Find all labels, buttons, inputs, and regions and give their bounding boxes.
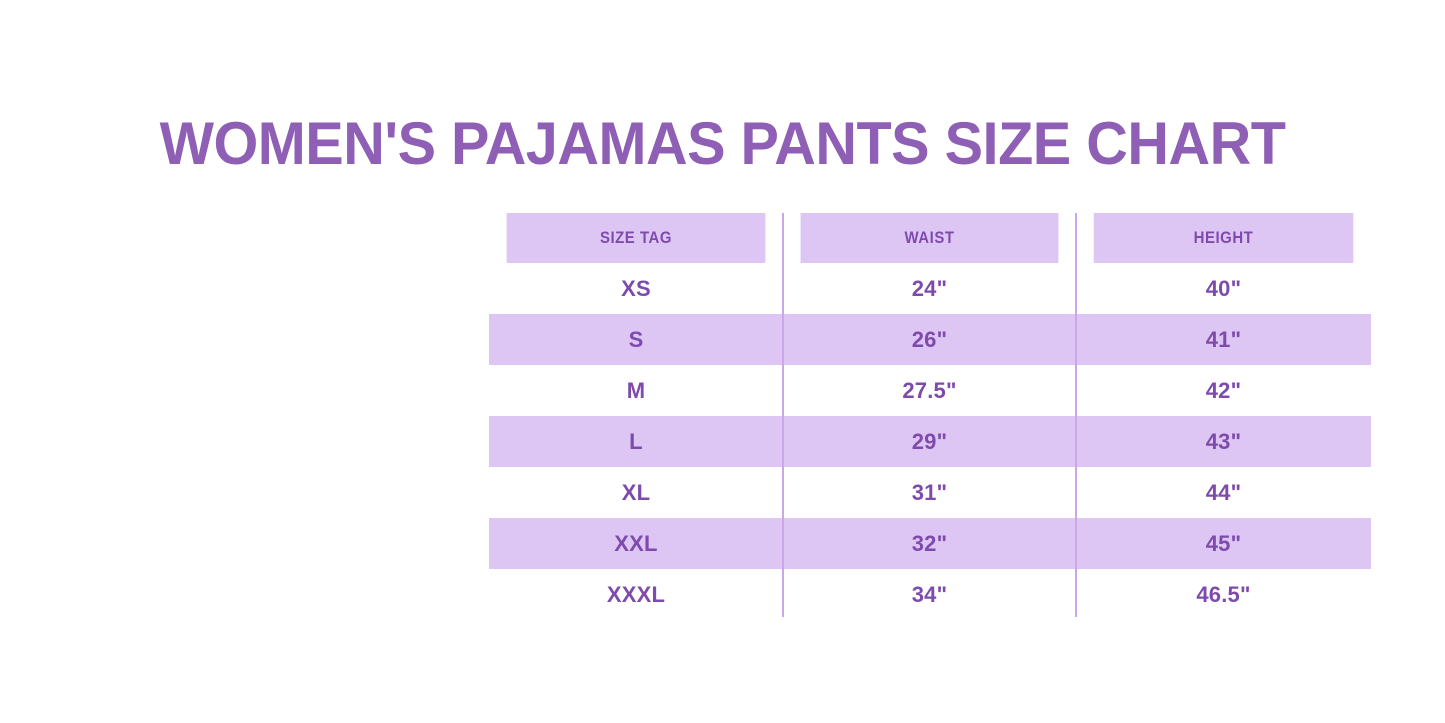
cell-waist: 26" [783,314,1076,365]
cell-height: 44" [1076,467,1371,518]
cell-waist: 27.5" [783,365,1076,416]
cell-height: 42" [1076,365,1371,416]
cell-size-tag: XXL [489,518,783,569]
cell-size-tag: M [489,365,783,416]
table-row: XL 31" 44" [489,467,1371,518]
size-chart-table-container: SIZE TAG WAIST HEIGHT XS 24" 40" S 26" 4… [489,213,1371,620]
column-header-waist: WAIST [801,213,1059,263]
table-header: SIZE TAG WAIST HEIGHT [489,213,1371,263]
table-header-row: SIZE TAG WAIST HEIGHT [489,213,1371,263]
cell-waist: 24" [783,263,1076,314]
cell-waist: 34" [783,569,1076,620]
cell-waist: 32" [783,518,1076,569]
table-body: XS 24" 40" S 26" 41" M 27.5" 42" L 29" [489,263,1371,620]
column-header-size-tag: SIZE TAG [507,213,766,263]
cell-height: 41" [1076,314,1371,365]
cell-height: 40" [1076,263,1371,314]
cell-size-tag: XXXL [489,569,783,620]
cell-size-tag: XS [489,263,783,314]
size-chart-table: SIZE TAG WAIST HEIGHT XS 24" 40" S 26" 4… [489,213,1371,620]
cell-size-tag: L [489,416,783,467]
page-title: WOMEN'S PAJAMAS PANTS SIZE CHART [29,108,1416,180]
cell-size-tag: XL [489,467,783,518]
cell-waist: 29" [783,416,1076,467]
size-chart-page: WOMEN'S PAJAMAS PANTS SIZE CHART SIZE TA… [0,0,1445,723]
cell-waist: 31" [783,467,1076,518]
cell-height: 45" [1076,518,1371,569]
cell-size-tag: S [489,314,783,365]
table-row: XXXL 34" 46.5" [489,569,1371,620]
cell-height: 46.5" [1076,569,1371,620]
table-row: M 27.5" 42" [489,365,1371,416]
table-row: XS 24" 40" [489,263,1371,314]
table-row: L 29" 43" [489,416,1371,467]
table-row: XXL 32" 45" [489,518,1371,569]
column-header-height: HEIGHT [1094,213,1354,263]
table-row: S 26" 41" [489,314,1371,365]
cell-height: 43" [1076,416,1371,467]
